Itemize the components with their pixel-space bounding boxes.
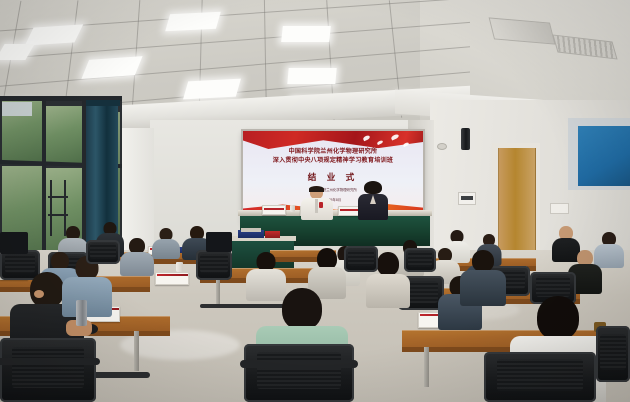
window-right-glass [578, 126, 630, 186]
dove-icon [403, 142, 410, 147]
paper-cup [290, 205, 295, 212]
person-hair [364, 181, 382, 194]
chair[interactable] [596, 326, 630, 382]
curtain-rail [86, 100, 120, 106]
chair[interactable] [196, 250, 232, 280]
notebook-paper [241, 228, 261, 232]
wall-speaker-icon [461, 128, 470, 150]
wall-outlet-panel[interactable] [550, 203, 569, 214]
red-folder [265, 231, 280, 238]
chair[interactable] [344, 246, 378, 272]
table-leg [216, 278, 220, 306]
photo-canvas: 中国科学院兰州化学物理研究所 深入贯彻中央八项规定精神学习教育培训班 结 业 式… [0, 0, 630, 402]
head-table-speaker [300, 186, 334, 218]
chair-foreground-center[interactable] [244, 344, 354, 402]
chair[interactable] [404, 248, 436, 272]
chair-foreground-left[interactable] [0, 338, 96, 402]
screen-program-line: 深入贯彻中央八项规定精神学习教育培训班 [243, 157, 423, 166]
person-ear [34, 290, 44, 298]
table-leg [134, 331, 139, 371]
ceiling-light-panel [287, 68, 336, 84]
wall-switch-panel[interactable] [458, 192, 476, 205]
attendee [152, 228, 180, 256]
equipment-monitor [206, 232, 232, 252]
screen-org-line: 中国科学院兰州化学物理研究所 [243, 148, 423, 157]
badge-lanyard [319, 202, 323, 208]
head-table-host [358, 182, 388, 218]
ceiling-light-panel [281, 26, 331, 42]
equipment-monitor [0, 232, 28, 254]
table-name-card [155, 272, 189, 285]
paper-cup [176, 262, 183, 272]
table-name-card [262, 205, 286, 215]
attendee [120, 238, 154, 272]
thermos [76, 300, 87, 326]
window-right [568, 118, 630, 190]
screen-event-title: 结 业 式 [243, 171, 423, 183]
smoke-detector-icon [437, 143, 447, 150]
ceiling-light-panel [183, 79, 241, 100]
chair-foreground-right[interactable] [484, 352, 596, 402]
person-hair [309, 186, 324, 192]
chair[interactable] [86, 240, 120, 264]
table-leg [424, 347, 429, 387]
shirt-placket [315, 199, 318, 213]
attendee [62, 256, 112, 312]
ceiling-light-panel [165, 12, 221, 32]
attendee [460, 250, 506, 302]
